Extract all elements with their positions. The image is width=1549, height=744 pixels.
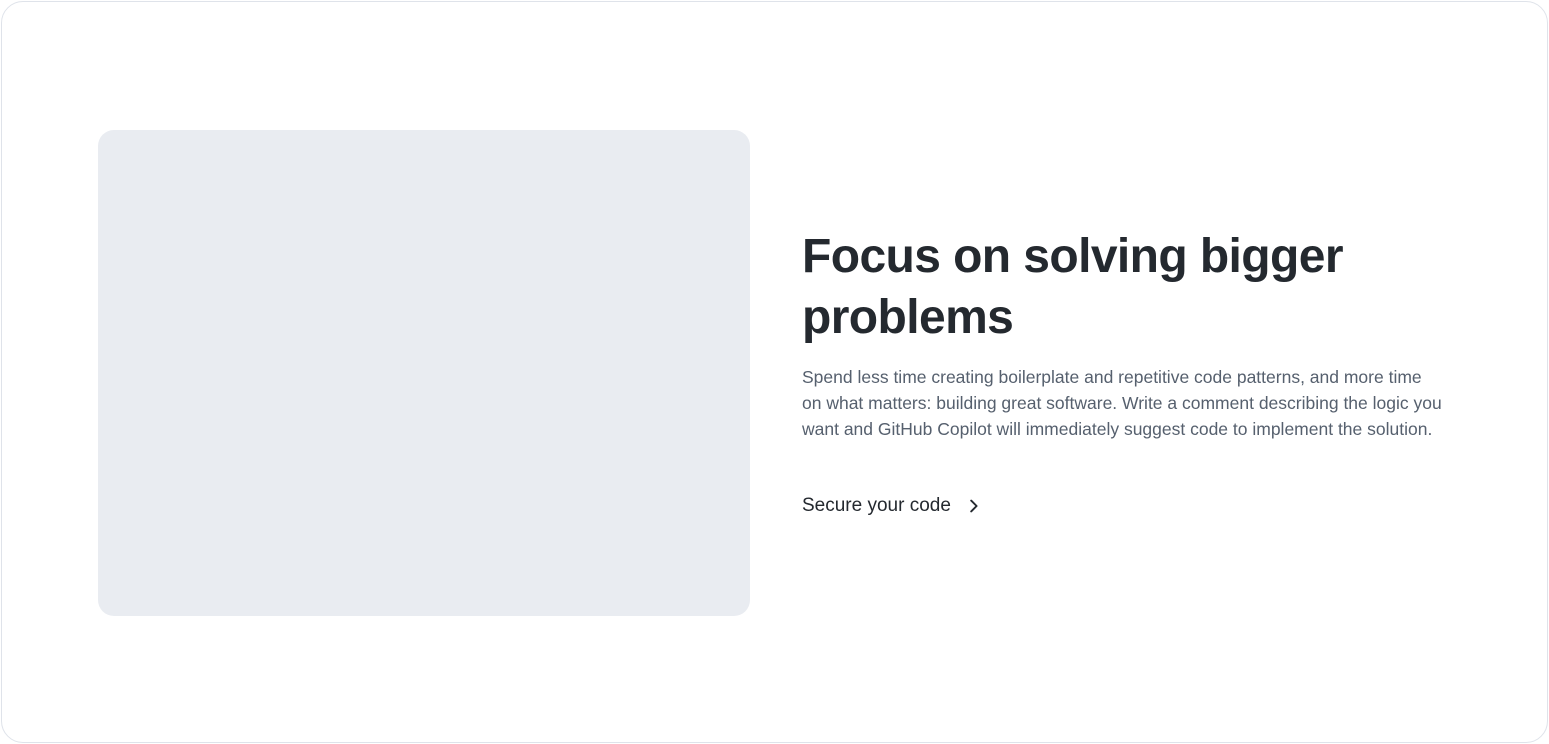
secure-your-code-link[interactable]: Secure your code [802,494,981,518]
media-placeholder [98,130,750,616]
chevron-right-icon [967,497,981,515]
feature-description: Spend less time creating boilerplate and… [802,364,1445,442]
cta-label: Secure your code [802,494,951,518]
page-root: Focus on solving bigger problems Spend l… [0,0,1549,744]
feature-card: Focus on solving bigger problems Spend l… [1,1,1548,743]
feature-card-inner: Focus on solving bigger problems Spend l… [2,2,1547,742]
page-title: Focus on solving bigger problems [802,226,1402,348]
feature-content: Focus on solving bigger problems Spend l… [802,130,1447,616]
